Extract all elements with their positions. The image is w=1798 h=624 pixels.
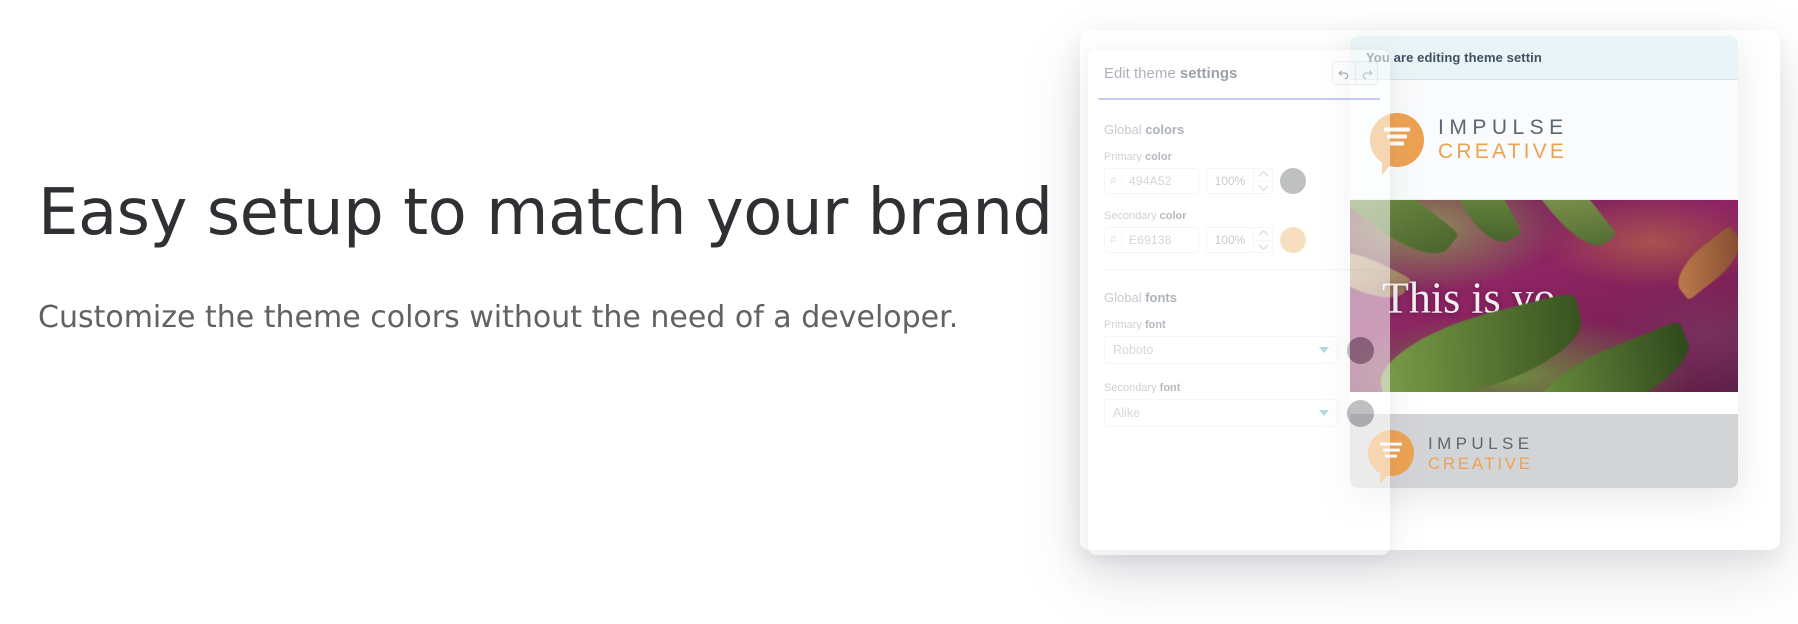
primary-font-color-swatch[interactable] (1347, 337, 1374, 364)
hero-copy-block: Easy setup to match your brand Customize… (38, 178, 938, 338)
primary-color-row: # 494A52 100% (1104, 168, 1374, 194)
section-title-bold: fonts (1145, 290, 1177, 305)
opacity-increment-button[interactable] (1254, 169, 1272, 181)
secondary-color-opacity-stepper[interactable]: 100% (1206, 227, 1273, 253)
preview-hero-image: This is yo (1350, 200, 1738, 392)
primary-font-row: Roboto (1104, 336, 1374, 364)
section-title-light: Global (1104, 122, 1145, 137)
opacity-decrement-button[interactable] (1254, 181, 1272, 194)
primary-color-swatch[interactable] (1280, 168, 1306, 194)
impulse-creative-logo: IMPULSE CREATIVE (1370, 113, 1569, 167)
settings-panel-body: Global colors Primary color # 494A52 100… (1088, 100, 1390, 427)
logo-word-impulse: IMPULSE (1438, 117, 1569, 138)
history-button-group (1332, 61, 1378, 85)
opacity-decrement-button[interactable] (1254, 240, 1272, 253)
secondary-font-select[interactable]: Alike (1104, 399, 1338, 427)
leaf-shape (1442, 200, 1522, 252)
chevron-down-icon (1258, 181, 1268, 191)
primary-color-opacity-stepper[interactable]: 100% (1206, 168, 1273, 194)
leaf-shape (1668, 226, 1738, 301)
primary-font-value: Roboto (1113, 343, 1153, 357)
primary-opacity-value: 100% (1207, 169, 1253, 193)
section-title-global-colors: Global colors (1104, 122, 1374, 137)
secondary-font-color-swatch[interactable] (1347, 400, 1374, 427)
editing-banner-text: You are editing theme settin (1366, 50, 1542, 65)
field-label-secondary-color: Secondary color (1104, 210, 1374, 222)
stepper-arrows (1253, 228, 1272, 252)
field-label-primary-font: Primary font (1104, 319, 1374, 331)
preview-site-header: IMPULSE CREATIVE (1350, 80, 1738, 200)
settings-title-bold: settings (1180, 65, 1238, 82)
hash-prefix: # (1105, 175, 1121, 187)
impulse-creative-footer-logo: IMPULSE CREATIVE (1368, 430, 1533, 476)
chevron-down-icon (1319, 410, 1329, 416)
editing-banner: You are editing theme settin (1350, 36, 1738, 80)
redo-button[interactable] (1355, 62, 1377, 84)
undo-icon (1338, 67, 1351, 80)
hash-prefix: # (1105, 234, 1121, 246)
secondary-font-value: Alike (1113, 406, 1140, 420)
secondary-font-row: Alike (1104, 399, 1374, 427)
page-title: Easy setup to match your brand (38, 178, 938, 250)
secondary-color-hex-value: E69138 (1121, 233, 1198, 247)
leaf-shape (1523, 200, 1617, 258)
theme-editor-screenshot: You are editing theme settin IMPULSE CRE… (1020, 0, 1798, 624)
section-title-bold: colors (1145, 122, 1184, 137)
theme-preview-panel: You are editing theme settin IMPULSE CRE… (1350, 36, 1738, 488)
footer-logo-word-impulse: IMPULSE (1428, 435, 1533, 452)
chevron-down-icon (1258, 240, 1268, 250)
section-title-light: Global (1104, 290, 1145, 305)
chevron-down-icon (1319, 347, 1329, 353)
settings-title-light: Edit theme (1104, 65, 1180, 82)
undo-button[interactable] (1333, 62, 1355, 84)
secondary-color-swatch[interactable] (1280, 227, 1306, 253)
opacity-increment-button[interactable] (1254, 228, 1272, 240)
primary-color-hex-input[interactable]: # 494A52 (1104, 168, 1199, 194)
section-divider (1104, 269, 1374, 270)
secondary-opacity-value: 100% (1207, 228, 1253, 252)
secondary-color-row: # E69138 100% (1104, 227, 1374, 253)
settings-panel-title: Edit theme settings (1104, 65, 1237, 82)
edit-theme-settings-panel: Edit theme settings (1088, 50, 1390, 555)
page-root: Easy setup to match your brand Customize… (0, 0, 1798, 624)
logo-word-creative: CREATIVE (1438, 141, 1569, 162)
secondary-color-hex-input[interactable]: # E69138 (1104, 227, 1199, 253)
footer-logo-word-creative: CREATIVE (1428, 455, 1533, 472)
stepper-arrows (1253, 169, 1272, 193)
preview-site-footer: IMPULSE CREATIVE (1350, 414, 1738, 488)
primary-color-hex-value: 494A52 (1121, 174, 1198, 188)
preview-spacer (1350, 392, 1738, 414)
page-subtitle: Customize the theme colors without the n… (38, 298, 938, 339)
primary-font-select[interactable]: Roboto (1104, 336, 1338, 364)
field-label-secondary-font: Secondary font (1104, 382, 1374, 394)
redo-icon (1360, 67, 1373, 80)
field-label-primary-color: Primary color (1104, 151, 1374, 163)
section-title-global-fonts: Global fonts (1104, 290, 1374, 305)
settings-panel-header: Edit theme settings (1088, 50, 1390, 96)
